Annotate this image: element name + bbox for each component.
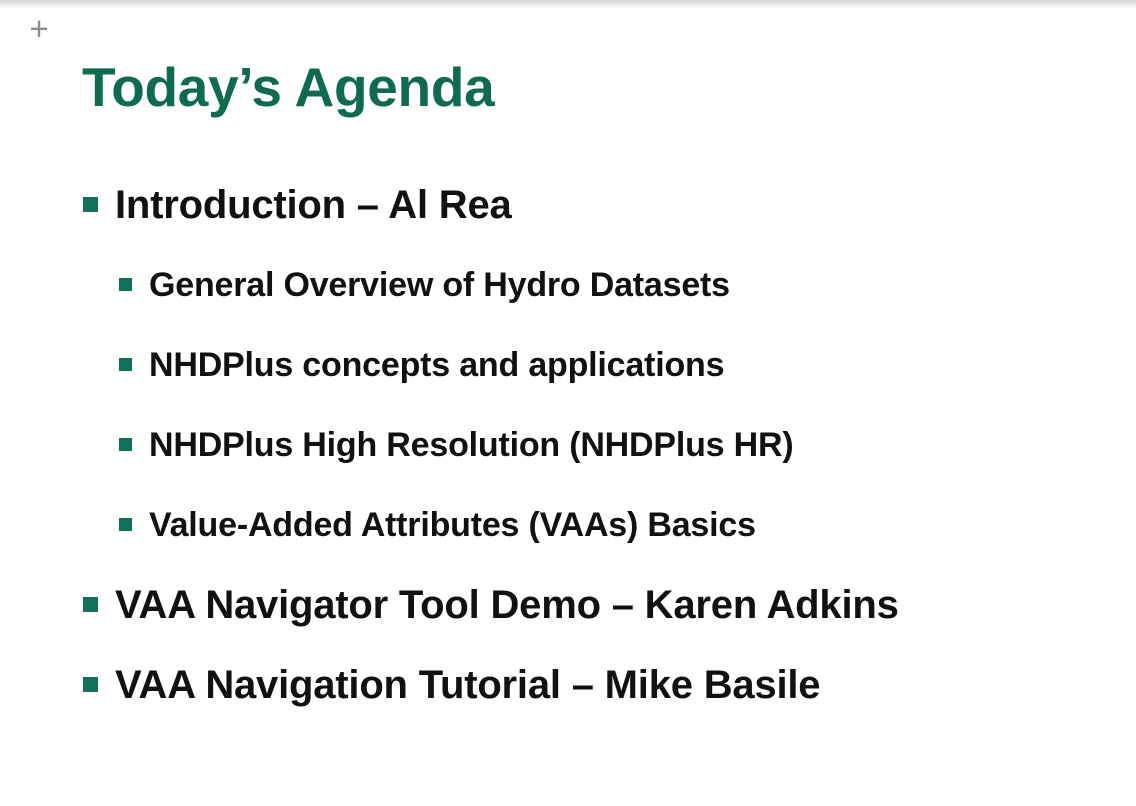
plus-icon[interactable]: + [26,16,52,42]
square-bullet-icon [119,518,132,531]
agenda-item-label: NHDPlus concepts and applications [149,330,724,400]
slide-title: Today’s Agenda [82,54,494,120]
square-bullet-icon [119,278,132,291]
agenda-item-label: NHDPlus High Resolution (NHDPlus HR) [149,410,793,480]
agenda-item-vaa-navigation-tutorial: VAA Navigation Tutorial – Mike Basile [0,650,1136,730]
presentation-slide: + Today’s Agenda Introduction – Al Rea G… [0,0,1136,806]
agenda-item-label: VAA Navigation Tutorial – Mike Basile [115,650,820,720]
agenda-item-label: Value-Added Attributes (VAAs) Basics [149,490,756,560]
square-bullet-icon [83,677,98,692]
square-bullet-icon [119,358,132,371]
agenda-subitem-nhdplus-concepts: NHDPlus concepts and applications [0,330,1136,410]
agenda-item-label: Introduction – Al Rea [115,170,512,240]
square-bullet-icon [119,438,132,451]
square-bullet-icon [83,597,98,612]
agenda-item-label: General Overview of Hydro Datasets [149,250,730,320]
agenda-subitem-nhdplus-hr: NHDPlus High Resolution (NHDPlus HR) [0,410,1136,490]
agenda-bullet-list: Introduction – Al Rea General Overview o… [0,170,1136,730]
agenda-item-vaa-navigator-demo: VAA Navigator Tool Demo – Karen Adkins [0,570,1136,650]
square-bullet-icon [83,197,98,212]
agenda-subitem-vaa-basics: Value-Added Attributes (VAAs) Basics [0,490,1136,570]
agenda-item-label: VAA Navigator Tool Demo – Karen Adkins [115,570,899,640]
agenda-item-introduction: Introduction – Al Rea [0,170,1136,250]
agenda-subitem-general-overview: General Overview of Hydro Datasets [0,250,1136,330]
